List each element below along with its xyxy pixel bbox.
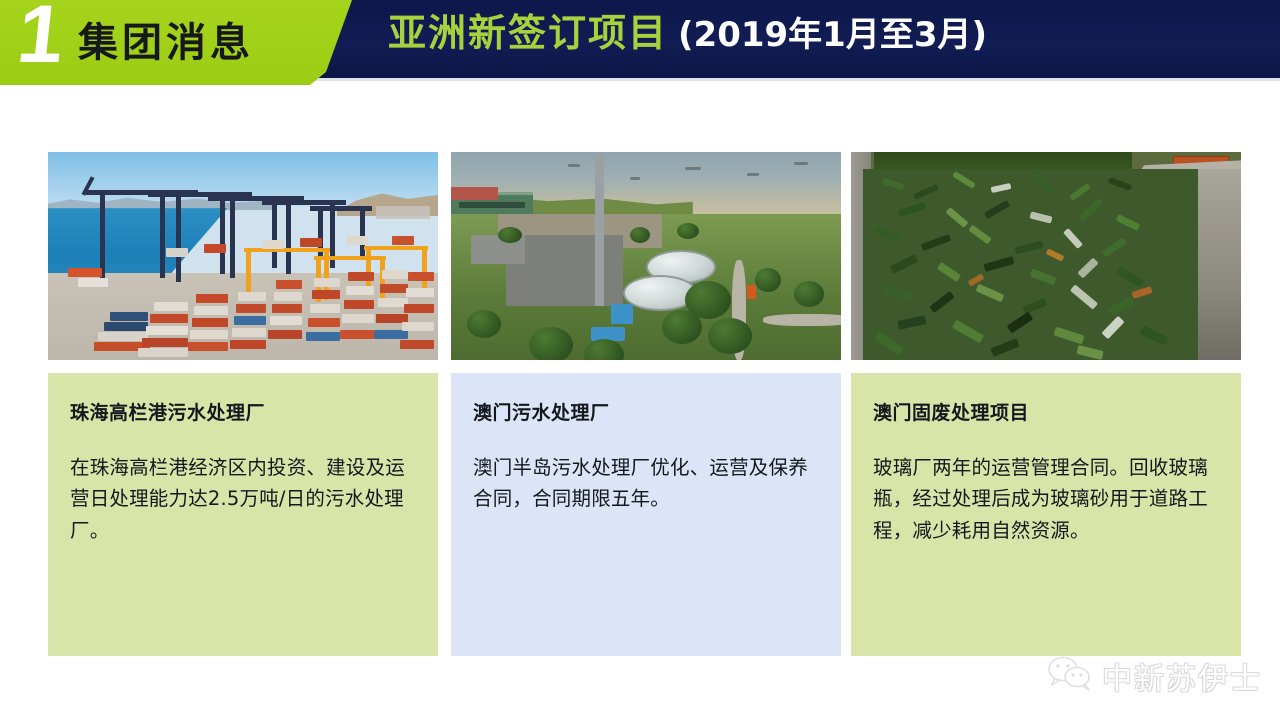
wechat-icon (1047, 655, 1093, 698)
card-title: 澳门污水处理厂 (473, 401, 819, 426)
page-title: 亚洲新签订项目(2019年1月至3月) (388, 12, 987, 56)
project-card[interactable]: 珠海高栏港污水处理厂 在珠海高栏港经济区内投资、建设及运营日处理能力达2.5万吨… (48, 152, 438, 656)
card-body: 澳门固废处理项目 玻璃厂两年的运营管理合同。回收玻璃瓶，经过处理后成为玻璃砂用于… (851, 373, 1241, 656)
section-label: 集团消息 (78, 20, 254, 66)
card-title: 珠海高栏港污水处理厂 (70, 401, 416, 426)
watermark: 中新苏伊士 (1047, 654, 1262, 698)
project-card[interactable]: 澳门固废处理项目 玻璃厂两年的运营管理合同。回收玻璃瓶，经过处理后成为玻璃砂用于… (851, 152, 1241, 656)
page-title-period: (2019年1月至3月) (678, 15, 987, 55)
slide-header: 1 集团消息 亚洲新签订项目(2019年1月至3月) (0, 0, 1280, 88)
card-body: 珠海高栏港污水处理厂 在珠海高栏港经济区内投资、建设及运营日处理能力达2.5万吨… (48, 373, 438, 656)
project-card[interactable]: 澳门污水处理厂 澳门半岛污水处理厂优化、运营及保养合同，合同期限五年。 (451, 152, 841, 656)
card-description: 澳门半岛污水处理厂优化、运营及保养合同，合同期限五年。 (473, 452, 819, 515)
photo-container-port (48, 152, 438, 360)
page-title-main: 亚洲新签订项目 (388, 11, 668, 55)
photo-glass-recycling (851, 152, 1241, 360)
watermark-text: 中新苏伊士 (1102, 654, 1262, 698)
project-card-grid: 珠海高栏港污水处理厂 在珠海高栏港经济区内投资、建设及运营日处理能力达2.5万吨… (48, 152, 1240, 657)
card-body: 澳门污水处理厂 澳门半岛污水处理厂优化、运营及保养合同，合同期限五年。 (451, 373, 841, 656)
card-title: 澳门固废处理项目 (873, 401, 1219, 426)
photo-wastewater-plant (451, 152, 841, 360)
card-description: 在珠海高栏港经济区内投资、建设及运营日处理能力达2.5万吨/日的污水处理厂。 (70, 452, 416, 547)
section-number: 1 (14, 0, 66, 76)
card-description: 玻璃厂两年的运营管理合同。回收玻璃瓶，经过处理后成为玻璃砂用于道路工程，减少耗用… (873, 452, 1219, 547)
